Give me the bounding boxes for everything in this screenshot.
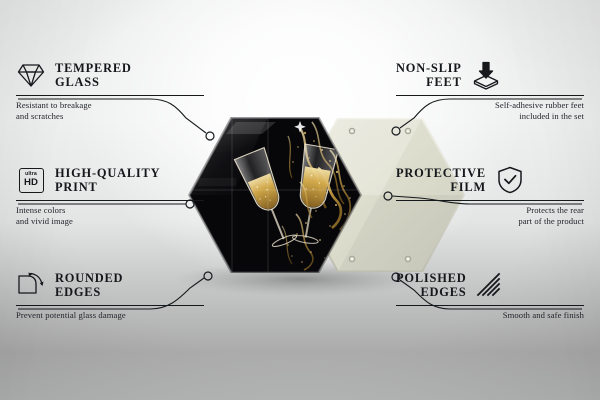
feature-title: PROTECTIVE FILM xyxy=(396,166,486,195)
feature-divider xyxy=(16,305,204,306)
press-down-pad-icon xyxy=(471,60,501,90)
diamond-icon xyxy=(16,60,46,90)
feature-header: NON-SLIP FEET xyxy=(396,58,584,92)
feature-divider xyxy=(396,95,584,96)
ultra-hd-large-text: HD xyxy=(24,178,38,188)
connector-node-rounded-edges xyxy=(204,272,212,280)
ultra-hd-icon: ultra HD xyxy=(16,165,46,195)
feature-subtitle: Smooth and safe finish xyxy=(396,310,584,321)
feature-subtitle: Self-adhesive rubber feet included in th… xyxy=(396,100,584,123)
rounded-corner-icon xyxy=(16,270,46,300)
infographic-canvas: TEMPERED GLASS Resistant to breakage and… xyxy=(0,0,600,400)
feature-divider xyxy=(16,95,204,96)
feature-tempered-glass: TEMPERED GLASS Resistant to breakage and… xyxy=(16,58,204,123)
diagonal-hatch-icon xyxy=(475,270,505,300)
feature-subtitle: Protects the rear part of the product xyxy=(396,205,584,228)
shield-check-icon xyxy=(495,165,525,195)
feature-rounded-edges: ROUNDED EDGES Prevent potential glass da… xyxy=(16,268,204,321)
feature-title: ROUNDED EDGES xyxy=(55,271,123,300)
feature-title: TEMPERED GLASS xyxy=(55,61,132,90)
feature-polished-edges: POLISHED EDGES Smooth and safe finish xyxy=(396,268,584,321)
connector-node-tempered-glass xyxy=(206,132,214,140)
feature-subtitle: Resistant to breakage and scratches xyxy=(16,100,204,123)
feature-subtitle: Intense colors and vivid image xyxy=(16,205,204,228)
feature-protective-film: PROTECTIVE FILM Protects the rear part o… xyxy=(396,163,584,228)
feature-header: POLISHED EDGES xyxy=(396,268,584,302)
feature-header: ultra HD HIGH-QUALITY PRINT xyxy=(16,163,204,197)
feature-divider xyxy=(16,200,204,201)
feature-high-quality-print: ultra HD HIGH-QUALITY PRINT Intense colo… xyxy=(16,163,204,228)
feature-header: ROUNDED EDGES xyxy=(16,268,204,302)
feature-title: NON-SLIP FEET xyxy=(396,61,462,90)
feature-divider xyxy=(396,305,584,306)
feature-header: TEMPERED GLASS xyxy=(16,58,204,92)
feature-subtitle: Prevent potential glass damage xyxy=(16,310,204,321)
feature-non-slip-feet: NON-SLIP FEET Self-adhesive rubber feet … xyxy=(396,58,584,123)
connector-node-non-slip-feet xyxy=(392,127,400,135)
feature-title: HIGH-QUALITY PRINT xyxy=(55,166,160,195)
connector-node-protective-film xyxy=(384,192,392,200)
feature-title: POLISHED EDGES xyxy=(396,271,466,300)
feature-divider xyxy=(396,200,584,201)
feature-header: PROTECTIVE FILM xyxy=(396,163,584,197)
